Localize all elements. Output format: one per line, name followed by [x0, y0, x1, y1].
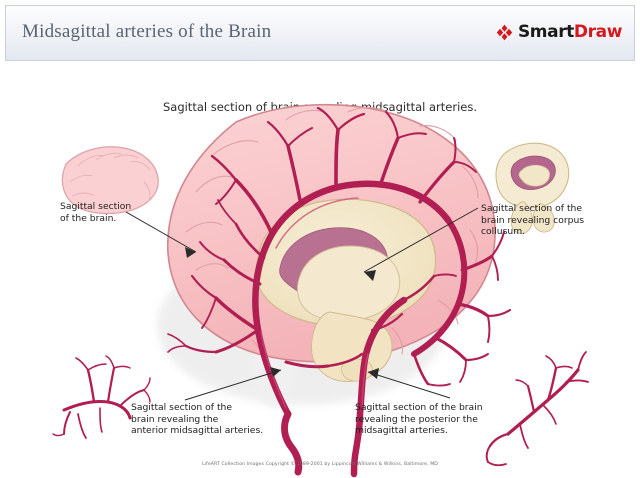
label-posterior-midsagittal-arteries: Sagittal section of the brain revealing …	[355, 402, 535, 437]
page-header: Midsagittal arteries of the Brain SmartD…	[5, 5, 635, 61]
label-sagittal-section-brain: Sagittal section of the brain.	[60, 201, 175, 224]
brand-word-smart: Smart	[518, 22, 574, 42]
brand-word-draw: Draw	[574, 22, 622, 42]
smartdraw-diamond-logo-icon	[496, 24, 513, 41]
page-root: Midsagittal arteries of the Brain SmartD…	[0, 0, 640, 478]
page-title: Midsagittal arteries of the Brain	[22, 21, 271, 43]
label-anterior-midsagittal-arteries: Sagittal section of the brain revealing …	[131, 402, 306, 437]
brain-illustration	[0, 62, 640, 478]
smartdraw-brand: SmartDraw	[496, 22, 622, 42]
smartdraw-wordmark: SmartDraw	[518, 22, 622, 42]
label-corpus-callosum: Sagittal section of the brain revealing …	[481, 203, 631, 238]
diagram-canvas: Sagittal section of brain revealing mids…	[0, 62, 640, 478]
copyright-footer: LifeART Collection Images Copyright © 19…	[0, 462, 640, 467]
